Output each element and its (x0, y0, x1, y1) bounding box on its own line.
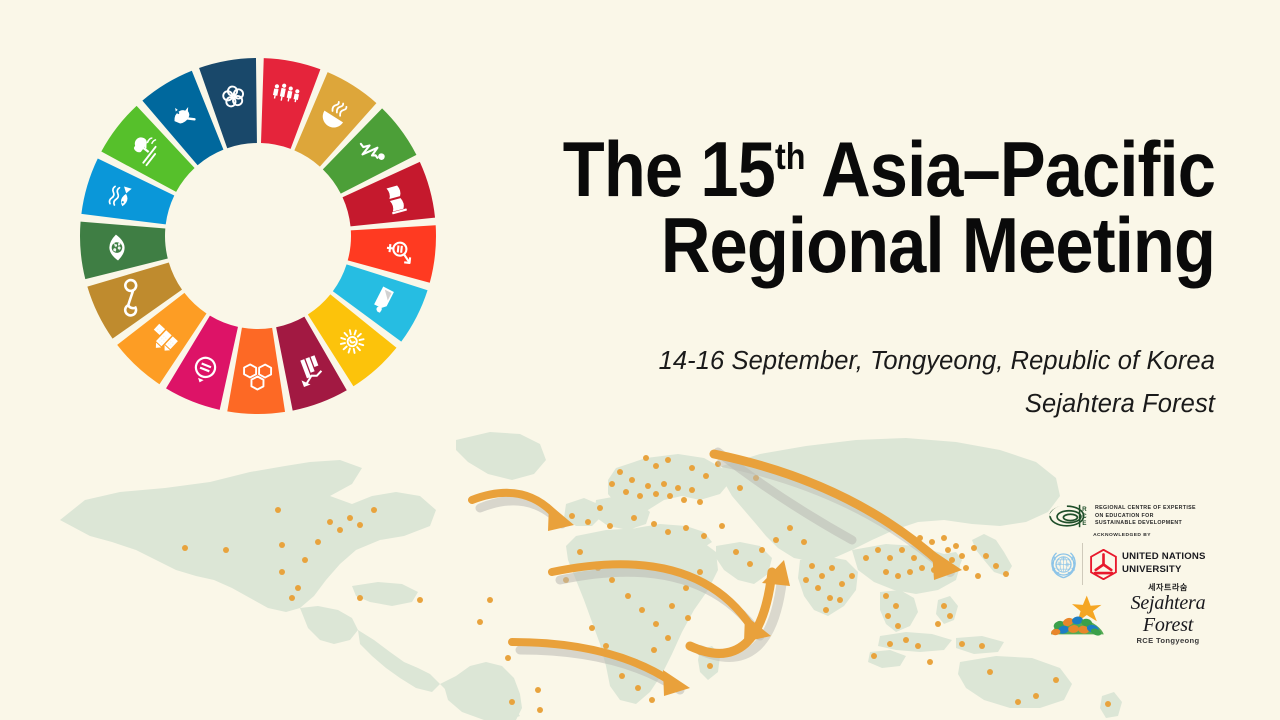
map-arrow-heads (548, 504, 962, 696)
un-emblem-icon (1048, 549, 1079, 580)
subtitle-date-location: 14-16 September, Tongyeong, Republic of … (470, 340, 1215, 383)
logo-stack: R C E REGIONAL CENTRE OF EXPERTISE ON ED… (1048, 503, 1238, 638)
sejahtera-forest-icon (1048, 594, 1110, 636)
map-location-dots (182, 455, 1111, 713)
map-landmasses (60, 432, 1122, 720)
subtitle-block: 14-16 September, Tongyeong, Republic of … (470, 340, 1215, 426)
map-arrow-shadows (480, 452, 852, 690)
sejahtera-subtitle: RCE Tongyeong (1112, 636, 1224, 645)
rce-logo-text: REGIONAL CENTRE OF EXPERTISE ON EDUCATIO… (1095, 504, 1196, 528)
rce-logo: R C E REGIONAL CENTRE OF EXPERTISE ON ED… (1048, 503, 1238, 529)
page-title-line-2: Regional Meeting (559, 208, 1215, 284)
unu-text-line-2: UNIVERSITY (1122, 564, 1206, 577)
logo-divider (1082, 543, 1083, 585)
unu-hexagon-icon (1090, 549, 1117, 580)
rce-swirl-icon: R C E (1048, 503, 1090, 529)
rce-text-line-3: SUSTAINABLE DEVELOPMENT (1095, 520, 1196, 528)
map-arrow-shadow-2 (700, 462, 950, 657)
united-nations-university-logo: UNITED NATIONS UNIVERSITY (1048, 541, 1238, 587)
sdg-wheel (78, 52, 438, 420)
sejahtera-name: Sejahtera Forest (1112, 593, 1224, 636)
title-block: The 15th Asia–Pacific Regional Meeting (470, 132, 1215, 283)
page-title-line-1: The 15th Asia–Pacific (559, 132, 1215, 208)
subtitle-venue: Sejahtera Forest (470, 383, 1215, 426)
map-flow-arrows (472, 454, 942, 682)
svg-text:E: E (1082, 520, 1086, 527)
sejahtera-forest-logo: 세자트라숨 Sejahtera Forest RCE Tongyeong (1048, 592, 1238, 638)
title-ordinal-suffix: th (775, 136, 805, 177)
rce-text-line-1: REGIONAL CENTRE OF EXPERTISE (1095, 505, 1196, 513)
unu-logo-text: UNITED NATIONS UNIVERSITY (1122, 551, 1206, 576)
sejahtera-logo-text: 세자트라숨 Sejahtera Forest RCE Tongyeong (1112, 584, 1224, 645)
rce-text-line-2: ON EDUCATION FOR (1095, 513, 1196, 521)
acknowledged-by-label: ACKNOWLEDGED BY (1062, 533, 1182, 538)
unu-text-line-1: UNITED NATIONS (1122, 551, 1206, 564)
svg-text:R: R (1082, 506, 1087, 513)
svg-text:C: C (1082, 513, 1087, 520)
